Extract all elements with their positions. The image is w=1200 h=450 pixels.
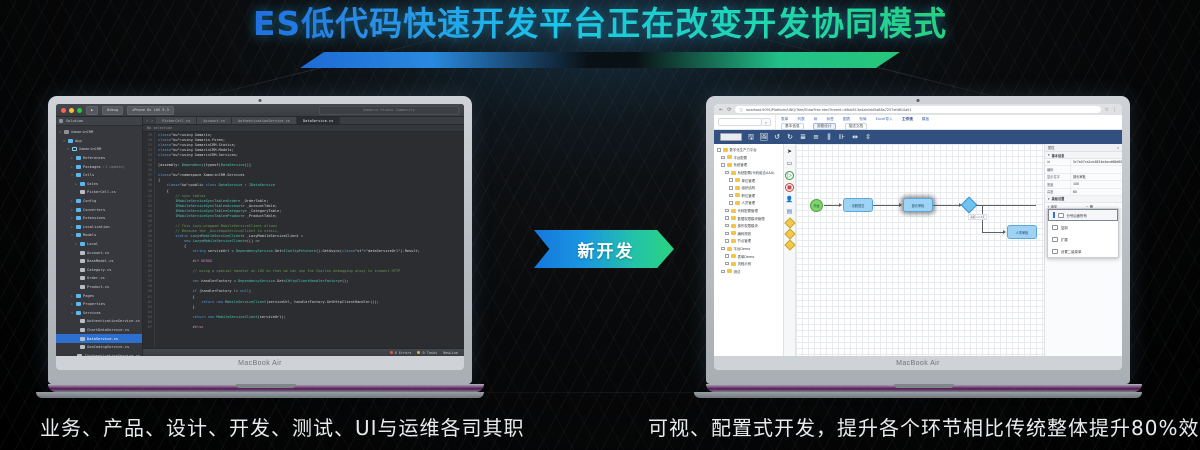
disclosure-triangle-icon[interactable]: ▸ xyxy=(70,199,74,203)
ide-body: Solution ▾XamarinCRM▾App▾XamarinCRM▸Refe… xyxy=(56,117,464,356)
module-tree-item[interactable]: 系统管理 xyxy=(716,161,781,169)
app-search[interactable]: ⌕ xyxy=(714,115,776,129)
start-event-icon[interactable]: ▷ xyxy=(785,171,794,180)
properties-title: 属性 xyxy=(1048,145,1054,150)
solution-pad: Solution ▾XamarinCRM▾App▾XamarinCRM▸Refe… xyxy=(56,117,143,356)
tree-checkbox[interactable] xyxy=(725,224,729,228)
device-selector[interactable]: iPhone 6s iOS 9.3 xyxy=(127,106,174,115)
folder-icon xyxy=(76,208,81,212)
folder-icon xyxy=(731,209,736,213)
tree-checkbox[interactable] xyxy=(717,148,721,152)
solution-tree-item-label: Services xyxy=(83,311,101,315)
module-tree-item-label: 流程示例 xyxy=(738,261,752,266)
app-menus: 表单列表树标签图表布局Excel导入工作流模板 基本信息流程设计描述文档 xyxy=(776,115,1122,129)
properties-section-basic[interactable]: ▾ 基本信息 xyxy=(1045,152,1122,159)
module-tree-item[interactable]: 表单Demo xyxy=(716,252,781,260)
caption-right: 可视、配置式开发，提升各个环节相比传统整体提升80%效率 xyxy=(648,412,1200,441)
solution-tree-item[interactable]: DataService.cs xyxy=(56,334,142,343)
context-menu[interactable]: 分号后面所有复制扩展设置二级菜单 xyxy=(1047,208,1119,258)
menu-item-icon xyxy=(1052,225,1058,230)
solution-tree-item[interactable]: ▸Config xyxy=(56,197,142,206)
pointer-icon[interactable]: ➤ xyxy=(785,147,794,156)
laptop-left-lid: ▶ Debug iPhone 6s iOS 9.3 Xamarin Studio… xyxy=(48,96,472,384)
module-tree-item-label: 人员管理 xyxy=(742,200,756,205)
file-icon xyxy=(80,345,85,349)
configuration-selector[interactable]: Debug xyxy=(102,106,123,115)
context-menu-item-label: 设置二级菜单 xyxy=(1061,249,1081,254)
solution-tree-item[interactable]: ▸Converters xyxy=(56,205,142,214)
flow-canvas[interactable]: 开始 请假提交 部长审批 xyxy=(796,144,1044,356)
disclosure-triangle-icon[interactable]: ▾ xyxy=(70,311,74,315)
folder-icon xyxy=(723,148,728,152)
sol-icon xyxy=(64,130,69,134)
end-event-icon[interactable]: ◼ xyxy=(785,183,794,192)
solution-tree-item[interactable]: ▾Services xyxy=(56,308,142,317)
tree-checkbox[interactable] xyxy=(729,186,733,190)
module-tree-item[interactable]: 人员管理 xyxy=(716,199,781,207)
property-key: 宽度 xyxy=(1045,181,1071,187)
ide-status-bar: 0 Errors 0 Tasks NewLine xyxy=(143,348,464,356)
solution-tree-item-label: Sales xyxy=(87,182,98,186)
module-tree-item-label: 数字化生产力平台 xyxy=(730,147,757,152)
folder-icon xyxy=(727,163,732,167)
menu-row-primary[interactable]: 表单列表树标签图表布局Excel导入工作流模板 xyxy=(781,116,1117,123)
solution-tree-item[interactable]: GeoCodingService.cs xyxy=(56,343,142,352)
solution-tree-item[interactable]: ▸Packages (1 update) xyxy=(56,162,142,171)
laptop-left-chin: MacBook Air xyxy=(56,356,464,370)
folder-icon xyxy=(76,302,81,306)
browser-actions[interactable]: ☆ ⋮ xyxy=(1105,107,1117,113)
module-tree-item[interactable]: 代码配置管理 xyxy=(716,207,781,215)
solution-tree-item[interactable]: PickerCell.cs xyxy=(56,188,142,197)
editor-tabs[interactable]: ‹ › PickerCell.csAccount.csAuthenticatio… xyxy=(143,117,464,125)
solution-tree-item[interactable]: ▸Local xyxy=(56,240,142,249)
xamarin-studio-ide: ▶ Debug iPhone 6s iOS 9.3 Xamarin Studio… xyxy=(56,104,464,356)
module-tree-item-label: 代码配置管理 xyxy=(738,208,758,213)
solution-tree-item-label: Config xyxy=(83,199,96,203)
flow-edge xyxy=(873,205,900,206)
module-tree-item-label: 操作权限模块 xyxy=(738,223,758,228)
laptop-right-screen: ← ⟳ ⓘ localhost:9091/Platform/UNQ/Tree/S… xyxy=(714,104,1122,370)
solution-tree-item[interactable]: ▾XamarinCRM xyxy=(56,128,142,137)
folder-icon xyxy=(76,225,81,229)
module-tree-item[interactable]: 组织结构 xyxy=(716,184,781,192)
solution-tree-item-label: Localization xyxy=(83,225,110,229)
module-tree-item-label: 组织结构 xyxy=(742,185,756,190)
tree-checkbox[interactable] xyxy=(721,163,725,167)
solution-tree-item-label: Account.cs xyxy=(87,251,109,255)
disclosure-triangle-icon[interactable]: ▾ xyxy=(62,139,66,143)
url-bar[interactable]: ⓘ localhost:9091/Platform/UNQ/Tree/ShowT… xyxy=(735,106,1100,113)
module-tree-item-label: 节点管理 xyxy=(738,238,752,243)
save-icon[interactable]: 🖫 xyxy=(747,133,755,141)
solution-tree-item[interactable]: Account.cs xyxy=(56,248,142,257)
solution-tree-item[interactable]: ▾XamarinCRM xyxy=(56,145,142,154)
close-icon[interactable] xyxy=(61,108,66,113)
laptop-left-brand: MacBook Air xyxy=(56,360,464,367)
tree-checkbox[interactable] xyxy=(721,156,725,160)
es-platform-browser: ← ⟳ ⓘ localhost:9091/Platform/UNQ/Tree/S… xyxy=(714,104,1122,356)
flow-node-start[interactable]: 开始 xyxy=(810,199,823,212)
flow-edge xyxy=(976,205,1036,206)
disclosure-triangle-icon[interactable]: ▸ xyxy=(70,165,74,169)
property-value[interactable]: 5c7a07ca1ce4854e4ecd68d60e0415b2cbe xyxy=(1071,159,1122,165)
tree-checkbox[interactable] xyxy=(721,247,725,251)
sub-menu-tab[interactable]: 流程设计 xyxy=(813,123,836,130)
solution-tree-item[interactable]: ▾App xyxy=(56,137,142,146)
property-row[interactable]: 宽度100 xyxy=(1045,181,1122,188)
tree-checkbox[interactable] xyxy=(725,171,729,175)
editor-tab[interactable]: DataService.cs xyxy=(297,117,340,124)
file-icon xyxy=(80,268,85,272)
property-key: 显示名字 xyxy=(1045,174,1071,180)
flow-edge xyxy=(824,205,840,206)
solution-tree-item[interactable]: Category.cs xyxy=(56,266,142,275)
chevron-down-icon: ▾ xyxy=(1048,153,1050,157)
context-menu-item[interactable]: 设置二级菜单 xyxy=(1048,245,1118,257)
property-key: 编码 xyxy=(1045,166,1071,172)
selection-bar xyxy=(1053,212,1055,218)
solution-tree-item-label: DataService.cs xyxy=(87,337,118,341)
property-value[interactable]: 部长审批 xyxy=(1071,174,1122,180)
disclosure-triangle-icon[interactable]: ▸ xyxy=(74,182,78,186)
flow-node-task-1[interactable]: 请假提交 xyxy=(843,198,873,212)
flow-edge xyxy=(933,205,960,206)
module-tree-item[interactable]: 编码规则 xyxy=(716,230,781,238)
folder-icon xyxy=(76,156,81,160)
file-icon xyxy=(80,259,85,263)
status-errors: 0 Errors xyxy=(390,351,412,355)
tree-checkbox[interactable] xyxy=(725,239,729,243)
sub-menu-tab[interactable]: 基本信息 xyxy=(781,123,804,130)
context-menu-item-label: 扩展 xyxy=(1061,237,1068,242)
module-tree-item-label: 数据权限模块管理 xyxy=(738,216,765,221)
solution-tree-item[interactable]: Order.cs xyxy=(56,274,142,283)
tree-checkbox[interactable] xyxy=(725,232,729,236)
property-row[interactable]: 显示名字部长审批 xyxy=(1045,174,1122,181)
menu-item[interactable]: 表单 xyxy=(781,117,788,122)
solution-pad-title: Solution xyxy=(66,119,83,123)
tree-checkbox[interactable] xyxy=(725,254,729,258)
solution-tree-item-label: Models xyxy=(83,233,96,237)
module-tree-item[interactable]: 流程示例 xyxy=(716,260,781,268)
code-content[interactable]: class="kw">using Xamarin;class="kw">usin… xyxy=(155,132,464,348)
editor-breadcrumb: No selection xyxy=(143,125,464,132)
laptop-right: ← ⟳ ⓘ localhost:9091/Platform/UNQ/Tree/S… xyxy=(706,96,1142,398)
solution-tree-item[interactable]: ChartDataService.cs xyxy=(56,326,142,335)
ide-toolbar: ▶ Debug iPhone 6s iOS 9.3 Xamarin Studio… xyxy=(56,104,464,117)
module-tree[interactable]: 数字化生产力平台平台配置系统管理系统配置(代码组合AAA)单位管理组织结构职位管… xyxy=(714,144,784,356)
folder-icon xyxy=(731,171,736,175)
module-tree-item[interactable]: 节点管理 xyxy=(716,237,781,245)
folder-icon xyxy=(731,224,736,228)
editor-tab-list[interactable]: PickerCell.csAccount.csAuthenticationSer… xyxy=(156,117,340,124)
laptop-left-base-foot xyxy=(36,392,484,398)
module-tree-item-label: 平台Demo xyxy=(734,246,751,251)
solution-tree-item-label: BaseModel.cs xyxy=(87,259,114,263)
disclosure-triangle-icon[interactable]: ▾ xyxy=(58,130,62,134)
code-view[interactable]: 2930313233343536373839404142434445464748… xyxy=(143,132,464,348)
solution-tree-item-label: Order.cs xyxy=(87,276,105,280)
folder-icon xyxy=(76,294,81,298)
redo-icon[interactable]: ↻ xyxy=(786,133,794,141)
folder-icon xyxy=(76,199,81,203)
folder-icon xyxy=(76,311,81,315)
solution-tree-item[interactable]: ▾Cells xyxy=(56,171,142,180)
editor-tab[interactable]: Account.cs xyxy=(197,117,232,124)
file-icon xyxy=(80,328,85,332)
run-button[interactable]: ▶ xyxy=(86,106,98,115)
solution-pad-header: Solution xyxy=(56,117,142,126)
menu-item[interactable]: 树 xyxy=(814,117,818,122)
properties-rows[interactable]: id5c7a07ca1ce4854e4ecd68d60e0415b2cbe编码显… xyxy=(1045,159,1122,196)
solution-tree-item[interactable]: AuthenticationService.cs xyxy=(56,317,142,326)
module-tree-item-label: 系统配置(代码组合AAA) xyxy=(738,170,775,175)
disclosure-triangle-icon[interactable]: ▸ xyxy=(70,208,74,212)
folder-icon xyxy=(727,155,732,159)
module-tree-item-label: 职位管理 xyxy=(742,193,756,198)
solution-tree-item-label: AuthenticationService.cs xyxy=(87,319,140,323)
folder-icon xyxy=(76,173,81,177)
solution-tree-item[interactable]: Product.cs xyxy=(56,283,142,292)
context-menu-item-label: 复制 xyxy=(1061,225,1068,230)
module-tree-item[interactable]: 测试 xyxy=(716,268,781,276)
align-middle-icon[interactable]: ⇹ xyxy=(851,133,859,141)
solution-icon xyxy=(59,119,63,123)
menu-icon[interactable]: ⋮ xyxy=(1112,107,1117,113)
laptop-right-base xyxy=(706,384,1142,392)
window-controls[interactable] xyxy=(61,108,82,113)
laptop-right-chin: MacBook Air xyxy=(714,356,1122,370)
shape-palette[interactable]: ➤ ▭ ▷ ◼ 👤 ▤ xyxy=(784,144,796,356)
disclosure-triangle-icon[interactable]: ▸ xyxy=(70,216,74,220)
folder-icon xyxy=(735,178,740,182)
folder-icon xyxy=(76,165,81,169)
solution-tree-item-label: GeoCodingService.cs xyxy=(87,345,129,349)
distribute-icon[interactable]: ⊪ xyxy=(838,133,846,141)
align-vertical-icon[interactable]: ⫼ xyxy=(825,133,833,141)
solution-tree-item[interactable]: ▸References xyxy=(56,154,142,163)
flow-node-task-3[interactable]: 人事审批 xyxy=(1007,225,1037,239)
status-tasks: 0 Tasks xyxy=(417,351,437,355)
solution-tree-item-label: PickerCell.cs xyxy=(87,190,116,194)
solution-tree-item-label: XamarinCRM xyxy=(79,147,101,151)
folder-icon xyxy=(727,247,732,251)
folder-icon xyxy=(735,193,740,197)
folder-icon xyxy=(731,254,736,258)
sub-menu-tab[interactable]: 描述文档 xyxy=(845,123,868,130)
image-icon[interactable]: 🖼 xyxy=(760,133,768,141)
disclosure-triangle-icon[interactable]: ▸ xyxy=(70,156,74,160)
tree-checkbox[interactable] xyxy=(729,178,733,182)
file-icon xyxy=(80,190,85,194)
solution-tree-item-label: Category.cs xyxy=(87,268,111,272)
solution-tree-item[interactable]: ▸Localization xyxy=(56,223,142,232)
undo-icon[interactable]: ↺ xyxy=(773,133,781,141)
solution-tree-item[interactable]: ▸Extensions xyxy=(56,214,142,223)
user-icon[interactable]: 👤 xyxy=(785,195,794,204)
property-row[interactable]: 高度60 xyxy=(1045,189,1122,196)
property-value[interactable] xyxy=(1071,166,1122,172)
title-underline-bar xyxy=(300,52,900,68)
disclosure-triangle-icon[interactable]: ▾ xyxy=(70,173,74,177)
flow-edge-label: 请假>=3天 xyxy=(968,214,987,220)
webcam-icon xyxy=(259,99,262,102)
menu-item[interactable]: 图表 xyxy=(843,117,850,122)
menu-item-icon xyxy=(1052,237,1058,242)
menu-row-secondary[interactable]: 基本信息流程设计描述文档 xyxy=(781,123,1117,130)
tree-checkbox[interactable] xyxy=(725,216,729,220)
solution-tree-item-label: Extensions xyxy=(83,216,105,220)
solution-tree-item-label: Product.cs xyxy=(87,285,109,289)
search-input[interactable] xyxy=(718,118,762,126)
menu-item[interactable]: Excel导入 xyxy=(876,117,893,122)
flow-arrowhead xyxy=(1003,230,1006,234)
new-development-label: 新开发 xyxy=(578,237,635,262)
folder-icon xyxy=(731,231,736,235)
property-key: 高度 xyxy=(1045,189,1071,195)
module-tree-item[interactable]: 数字化生产力平台 xyxy=(716,146,781,154)
disclosure-triangle-icon[interactable]: ▸ xyxy=(70,294,74,298)
folder-icon xyxy=(727,269,732,273)
folder-icon xyxy=(735,201,740,205)
folder-icon xyxy=(731,216,736,220)
menu-item[interactable]: 模板 xyxy=(922,117,929,122)
folder-icon xyxy=(68,139,73,143)
menu-item[interactable]: 布局 xyxy=(859,117,866,122)
align-right-icon[interactable]: ≡ xyxy=(812,133,820,141)
solution-tree-item-label: XamarinCRM xyxy=(71,130,93,134)
property-value[interactable]: 60 xyxy=(1071,189,1122,195)
align-left-icon[interactable]: ≣ xyxy=(799,133,807,141)
tree-checkbox[interactable] xyxy=(721,270,725,274)
reload-icon[interactable]: ⟳ xyxy=(727,107,731,113)
context-menu-item[interactable]: 复制 xyxy=(1048,221,1118,233)
laptop-right-lid: ← ⟳ ⓘ localhost:9091/Platform/UNQ/Tree/S… xyxy=(706,96,1130,384)
tab-nav-arrows[interactable]: ‹ › xyxy=(143,117,156,124)
properties-section-advanced[interactable]: ▾ 高级设置 xyxy=(1045,196,1122,203)
ide-search-input[interactable]: Xamarin Studio Community xyxy=(319,106,459,115)
module-tree-item[interactable]: 平台配置 xyxy=(716,154,781,162)
line-number: 67 xyxy=(143,325,152,330)
context-menu-item-label: 分号后面所有 xyxy=(1067,213,1087,218)
solution-tree-item[interactable]: ▸Properties xyxy=(56,300,142,309)
flow-node-task-2[interactable]: 部长审批 xyxy=(903,198,933,212)
solution-tree-item-label: ChartDataService.cs xyxy=(87,328,129,332)
tree-checkbox[interactable] xyxy=(725,209,729,213)
code-line: string serviceUrl = DependencyService.Ge… xyxy=(158,249,464,254)
solution-tree[interactable]: ▾XamarinCRM▾App▾XamarinCRM▸References▸Pa… xyxy=(56,126,142,370)
flow-node-gateway[interactable] xyxy=(961,197,978,214)
disclosure-triangle-icon[interactable]: ▾ xyxy=(66,147,70,151)
solution-tree-item[interactable]: ▸Pages xyxy=(56,291,142,300)
editor-tab[interactable]: AuthenticationService.cs xyxy=(232,117,297,124)
disclosure-triangle-icon[interactable]: ▸ xyxy=(74,242,78,246)
code-line: #else xyxy=(158,325,464,330)
laptop-right-base-foot xyxy=(694,392,1142,398)
property-row[interactable]: 编码 xyxy=(1045,166,1122,173)
tree-checkbox[interactable] xyxy=(729,194,733,198)
task-icon[interactable]: ▭ xyxy=(785,159,794,168)
document-icon[interactable]: ▤ xyxy=(785,207,794,216)
disclosure-triangle-icon[interactable]: ▸ xyxy=(70,302,74,306)
module-tree-item-label: 测试 xyxy=(734,269,741,274)
browser-toolbar: ← ⟳ ⓘ localhost:9091/Platform/UNQ/Tree/S… xyxy=(714,104,1122,115)
menu-item-icon xyxy=(1058,213,1064,218)
solution-tree-item-label: Cells xyxy=(83,173,94,177)
back-icon[interactable]: ← xyxy=(719,107,723,113)
new-development-banner: 新开发 xyxy=(534,230,674,268)
laptop-left-base xyxy=(48,384,484,392)
designer-toolbar[interactable]: 🖫 🖼 ↺ ↻ ≣ ≡ ⫼ ⊪ ⇹ ⇳ xyxy=(714,130,1122,144)
solution-tree-item[interactable]: ▾Models xyxy=(56,231,142,240)
properties-header: 属性 » xyxy=(1045,144,1122,152)
module-tree-item[interactable]: 平台Demo xyxy=(716,245,781,253)
tree-checkbox[interactable] xyxy=(729,201,733,205)
file-icon xyxy=(80,319,85,323)
folder-icon xyxy=(731,262,736,266)
solution-tree-item-label: Packages xyxy=(83,165,101,169)
module-tree-item-label: 系统管理 xyxy=(734,162,748,167)
app-menubar: ⌕ 表单列表树标签图表布局Excel导入工作流模板 基本信息流程设计描述文档 xyxy=(714,115,1122,130)
disclosure-triangle-icon[interactable]: ▸ xyxy=(70,225,74,229)
property-value[interactable]: 100 xyxy=(1071,181,1122,187)
module-tree-item-label: 单位管理 xyxy=(742,178,756,183)
tree-checkbox[interactable] xyxy=(725,262,729,266)
package-update-badge: (1 update) xyxy=(103,165,125,169)
menu-item-icon xyxy=(1052,249,1058,254)
collapse-icon[interactable]: » xyxy=(1117,146,1119,150)
solution-tree-item[interactable]: BaseModel.cs xyxy=(56,257,142,266)
solution-tree-item-label: Converters xyxy=(83,208,105,212)
module-tree-item[interactable]: 系统配置(代码组合AAA) xyxy=(716,169,781,177)
zoom-input[interactable] xyxy=(720,133,742,141)
property-row[interactable]: id5c7a07ca1ce4854e4ecd68d60e0415b2cbe xyxy=(1045,159,1122,166)
context-menu-item[interactable]: 分号后面所有 xyxy=(1048,209,1118,221)
laptop-left-screen: ▶ Debug iPhone 6s iOS 9.3 Xamarin Studio… xyxy=(56,104,464,370)
maximize-icon[interactable] xyxy=(77,108,82,113)
star-icon[interactable]: ☆ xyxy=(1105,107,1109,113)
disclosure-triangle-icon[interactable]: ▾ xyxy=(70,233,74,237)
designer-body: 数字化生产力平台平台配置系统管理系统配置(代码组合AAA)单位管理组织结构职位管… xyxy=(714,144,1122,356)
folder-icon xyxy=(735,186,740,190)
minimize-icon[interactable] xyxy=(69,108,74,113)
solution-tree-item[interactable]: ▸Sales xyxy=(56,180,142,189)
menu-item[interactable]: 列表 xyxy=(797,117,804,122)
solution-tree-item-label: App xyxy=(75,139,82,143)
editor-tab[interactable]: PickerCell.cs xyxy=(156,117,197,124)
folder-icon xyxy=(80,182,85,186)
file-icon xyxy=(80,337,85,341)
module-tree-item[interactable]: 单位管理 xyxy=(716,176,781,184)
distribute-vertical-icon[interactable]: ⇳ xyxy=(864,133,872,141)
menu-item[interactable]: 标签 xyxy=(826,117,833,122)
folder-icon xyxy=(76,233,81,237)
module-tree-item[interactable]: 操作权限模块 xyxy=(716,222,781,230)
search-icon[interactable]: ⌕ xyxy=(762,118,771,126)
solution-tree-item-label: Pages xyxy=(83,294,94,298)
menu-item[interactable]: 工作流 xyxy=(902,117,913,122)
gateway-icon[interactable] xyxy=(784,239,795,250)
solution-tree-item-label: Local xyxy=(87,242,98,246)
module-tree-item[interactable]: 数据权限模块管理 xyxy=(716,214,781,222)
module-tree-item[interactable]: 职位管理 xyxy=(716,192,781,200)
context-menu-item[interactable]: 扩展 xyxy=(1048,233,1118,245)
folder-icon xyxy=(80,242,85,246)
caption-left: 业务、产品、设计、开发、测试、UI与运维各司其职 xyxy=(40,412,525,441)
flow-arrowhead xyxy=(839,203,842,207)
module-tree-item-label: 平台配置 xyxy=(734,155,748,160)
